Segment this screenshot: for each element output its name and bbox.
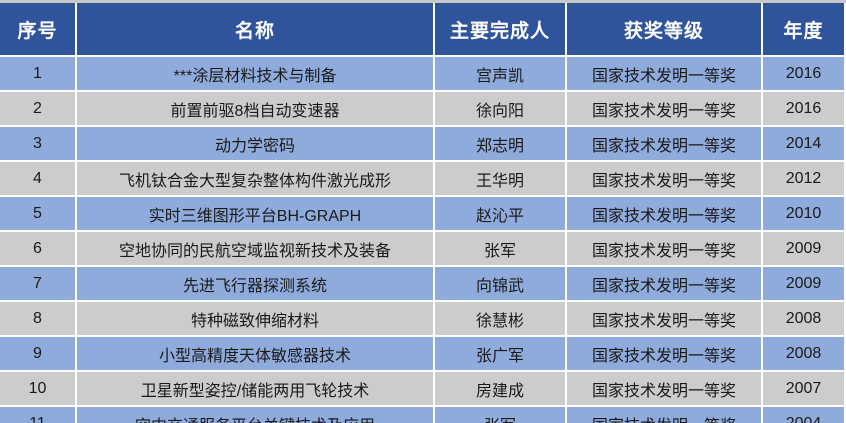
cell-level: 国家技术发明一等奖 (567, 232, 763, 267)
cell-seq: 6 (0, 232, 77, 267)
cell-level: 国家技术发明一等奖 (567, 372, 763, 407)
cell-name: 前置前驱8档自动变速器 (77, 92, 435, 127)
cell-year: 2014 (763, 127, 846, 162)
cell-person: 徐向阳 (435, 92, 567, 127)
cell-level: 国家技术发明一等奖 (567, 267, 763, 302)
cell-name: ***涂层材料技术与制备 (77, 57, 435, 92)
cell-name: 空地协同的民航空域监视新技术及装备 (77, 232, 435, 267)
cell-person: 向锦武 (435, 267, 567, 302)
table-row[interactable]: 2前置前驱8档自动变速器徐向阳国家技术发明一等奖2016 (0, 92, 846, 127)
column-header-person: 主要完成人 (435, 3, 567, 57)
header-row: 序号 名称 主要完成人 获奖等级 年度 (0, 3, 846, 57)
cell-level: 国家技术发明一等奖 (567, 162, 763, 197)
column-header-name: 名称 (77, 3, 435, 57)
table-row[interactable]: 5实时三维图形平台BH-GRAPH赵沁平国家技术发明一等奖2010 (0, 197, 846, 232)
cell-year: 2009 (763, 267, 846, 302)
cell-name: 先进飞行器探测系统 (77, 267, 435, 302)
table-row[interactable]: 3动力学密码郑志明国家技术发明一等奖2014 (0, 127, 846, 162)
cell-level: 国家技术发明一等奖 (567, 407, 763, 423)
cell-level: 国家技术发明一等奖 (567, 57, 763, 92)
cell-person: 房建成 (435, 372, 567, 407)
cell-person: 赵沁平 (435, 197, 567, 232)
cell-person: 徐慧彬 (435, 302, 567, 337)
cell-seq: 11 (0, 407, 77, 423)
cell-level: 国家技术发明一等奖 (567, 197, 763, 232)
cell-name: 小型高精度天体敏感器技术 (77, 337, 435, 372)
cell-name: 实时三维图形平台BH-GRAPH (77, 197, 435, 232)
column-header-seq: 序号 (0, 3, 77, 57)
table-row[interactable]: 4飞机钛合金大型复杂整体构件激光成形王华明国家技术发明一等奖2012 (0, 162, 846, 197)
cell-level: 国家技术发明一等奖 (567, 127, 763, 162)
cell-name: 动力学密码 (77, 127, 435, 162)
cell-seq: 8 (0, 302, 77, 337)
cell-year: 2009 (763, 232, 846, 267)
cell-name: 特种磁致伸缩材料 (77, 302, 435, 337)
column-header-year: 年度 (763, 3, 846, 57)
table-row[interactable]: 11空中交通服务平台关键技术及应用张军国家技术发明一等奖2004 (0, 407, 846, 423)
table-row[interactable]: 1***涂层材料技术与制备宫声凯国家技术发明一等奖2016 (0, 57, 846, 92)
cell-person: 张军 (435, 407, 567, 423)
award-table: 序号 名称 主要完成人 获奖等级 年度 1***涂层材料技术与制备宫声凯国家技术… (0, 3, 846, 423)
cell-seq: 5 (0, 197, 77, 232)
cell-year: 2016 (763, 92, 846, 127)
cell-year: 2008 (763, 302, 846, 337)
cell-year: 2016 (763, 57, 846, 92)
cell-year: 2007 (763, 372, 846, 407)
table-row[interactable]: 10卫星新型姿控/储能两用飞轮技术房建成国家技术发明一等奖2007 (0, 372, 846, 407)
cell-level: 国家技术发明一等奖 (567, 337, 763, 372)
table-row[interactable]: 9小型高精度天体敏感器技术张广军国家技术发明一等奖2008 (0, 337, 846, 372)
screenshot-root: 序号 名称 主要完成人 获奖等级 年度 1***涂层材料技术与制备宫声凯国家技术… (0, 0, 846, 423)
cell-seq: 7 (0, 267, 77, 302)
table-row[interactable]: 8特种磁致伸缩材料徐慧彬国家技术发明一等奖2008 (0, 302, 846, 337)
cell-person: 张广军 (435, 337, 567, 372)
cell-year: 2008 (763, 337, 846, 372)
cell-level: 国家技术发明一等奖 (567, 302, 763, 337)
cell-seq: 9 (0, 337, 77, 372)
cell-seq: 3 (0, 127, 77, 162)
cell-name: 飞机钛合金大型复杂整体构件激光成形 (77, 162, 435, 197)
cell-name: 卫星新型姿控/储能两用飞轮技术 (77, 372, 435, 407)
cell-name: 空中交通服务平台关键技术及应用 (77, 407, 435, 423)
cell-seq: 2 (0, 92, 77, 127)
cell-seq: 10 (0, 372, 77, 407)
table-row[interactable]: 7先进飞行器探测系统向锦武国家技术发明一等奖2009 (0, 267, 846, 302)
table-header: 序号 名称 主要完成人 获奖等级 年度 (0, 3, 846, 57)
cell-level: 国家技术发明一等奖 (567, 92, 763, 127)
table-row[interactable]: 6空地协同的民航空域监视新技术及装备张军国家技术发明一等奖2009 (0, 232, 846, 267)
cell-seq: 4 (0, 162, 77, 197)
cell-person: 王华明 (435, 162, 567, 197)
table-body: 1***涂层材料技术与制备宫声凯国家技术发明一等奖20162前置前驱8档自动变速… (0, 57, 846, 423)
cell-year: 2010 (763, 197, 846, 232)
cell-seq: 1 (0, 57, 77, 92)
column-header-level: 获奖等级 (567, 3, 763, 57)
cell-year: 2004 (763, 407, 846, 423)
cell-person: 张军 (435, 232, 567, 267)
cell-year: 2012 (763, 162, 846, 197)
cell-person: 郑志明 (435, 127, 567, 162)
cell-person: 宫声凯 (435, 57, 567, 92)
